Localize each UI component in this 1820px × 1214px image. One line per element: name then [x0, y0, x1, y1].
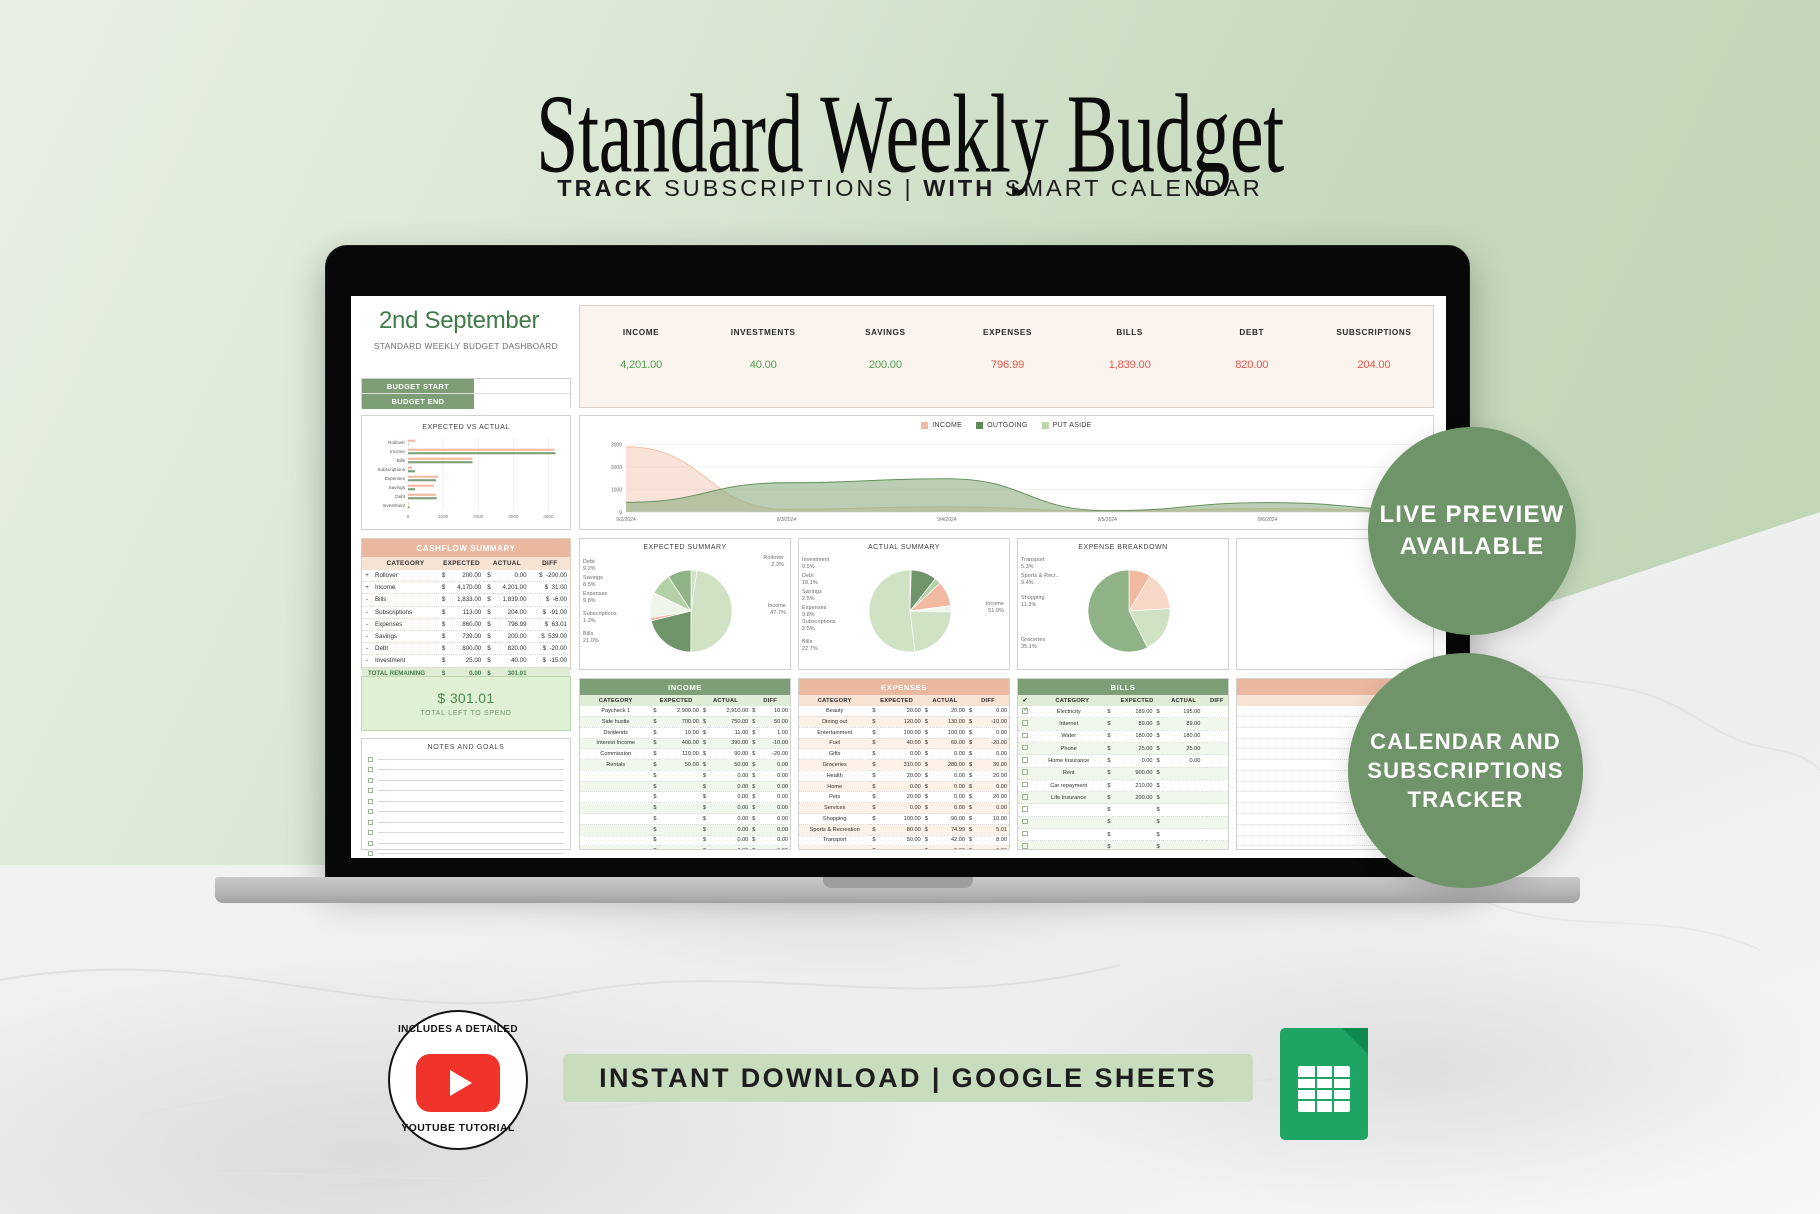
bill-checkbox-cell[interactable]	[1018, 816, 1032, 828]
row-currency: $	[750, 814, 757, 825]
cashflow-currency: $	[439, 606, 448, 618]
cashflow-category: Savings	[372, 630, 439, 642]
kpi-bills: BILLS1,839.00	[1070, 328, 1190, 371]
budget-dashboard: 2nd September STANDARD WEEKLY BUDGET DAS…	[351, 296, 1446, 858]
kpi-label: EXPENSES	[948, 328, 1068, 337]
cashflow-currency: $	[439, 594, 448, 606]
note-line[interactable]	[362, 820, 570, 825]
pie-label-value: 11.3%	[1021, 602, 1036, 608]
pie-label-name: Bills	[802, 639, 812, 645]
row-currency: $	[1105, 743, 1112, 755]
bill-checkbox-cell[interactable]	[1018, 779, 1032, 791]
row-expected: 100.00	[878, 727, 923, 738]
row-currency: $	[1105, 792, 1112, 804]
legend-item-income: INCOME	[921, 422, 962, 429]
pie-label-name: Groceries	[1021, 637, 1045, 643]
row-currency: $	[1105, 706, 1112, 718]
pie-label-value: 10.1%	[802, 580, 818, 586]
row-actual: 0.00	[708, 846, 750, 850]
bill-checkbox[interactable]	[1022, 708, 1028, 714]
row-currency: $	[750, 792, 757, 803]
table-row: Commission$110.00$90.00$-20.00	[580, 749, 790, 760]
row-currency: $	[701, 824, 708, 835]
row-currency: $	[1154, 841, 1161, 850]
pie-label: Income51.9%	[986, 601, 1004, 615]
kpi-expenses: EXPENSES796.99	[948, 328, 1068, 371]
table-row: $$	[1018, 804, 1228, 816]
pie-label: Subscriptions1.3%	[583, 611, 617, 625]
note-line[interactable]	[362, 841, 570, 846]
row-diff	[1202, 730, 1228, 742]
expected-summary-pie: Rollover2.3%Income47.7%Bills21.0%Subscri…	[580, 553, 790, 669]
row-diff: 5.01	[974, 824, 1009, 835]
cashflow-sign: -	[362, 655, 372, 667]
laptop-mockup: 2nd September STANDARD WEEKLY BUDGET DAS…	[325, 245, 1470, 895]
kpi-investments: INVESTMENTS40.00	[703, 328, 823, 371]
row-currency: $	[651, 803, 658, 814]
cashflow-category: Expenses	[372, 618, 439, 630]
row-diff	[1202, 718, 1228, 730]
note-line[interactable]	[362, 799, 570, 804]
row-actual: 89.00	[1162, 718, 1203, 730]
row-expected: 50.00	[878, 835, 923, 846]
bill-checkbox[interactable]	[1022, 720, 1028, 726]
total-left-to-spend-card: $ 301.01 TOTAL LEFT TO SPEND	[361, 676, 571, 731]
row-expected: 0.00	[878, 803, 923, 814]
bill-checkbox-cell[interactable]	[1018, 841, 1032, 850]
cashflow-col-expected: EXPECTED	[439, 557, 484, 570]
row-category	[580, 846, 651, 850]
row-category: Pets	[799, 792, 870, 803]
pie-label-name: Sports & Recr..	[1021, 573, 1059, 579]
pie-label-name: Transport	[1021, 557, 1045, 563]
table-row: Dining out$120.00$130.00$-10.00	[799, 716, 1009, 727]
cashflow-diff: $ 539.00	[530, 630, 570, 642]
expenses-header-row: CATEGORYEXPECTEDACTUALDIFF	[799, 695, 1009, 706]
bill-checkbox[interactable]	[1022, 745, 1028, 751]
cashflow-expected: 4,170.00	[448, 582, 484, 594]
row-currency: $	[651, 770, 658, 781]
bill-checkbox-cell[interactable]	[1018, 718, 1032, 730]
row-expected: 2,900.00	[659, 706, 701, 716]
row-diff: 0.00	[757, 824, 790, 835]
row-expected	[659, 846, 701, 850]
table-row: $$0.00$0.00	[580, 835, 790, 846]
expenses-table: CATEGORYEXPECTEDACTUALDIFF Beauty$20.00$…	[799, 695, 1009, 850]
row-currency: $	[750, 803, 757, 814]
actual-summary-title: ACTUAL SUMMARY	[799, 539, 1009, 551]
row-category: Fuel	[799, 738, 870, 749]
row-category: Water	[1032, 730, 1105, 742]
row-diff: 0.00	[757, 792, 790, 803]
note-line[interactable]	[362, 851, 570, 856]
row-diff	[1202, 779, 1228, 791]
row-currency: $	[651, 716, 658, 727]
cashflow-row: +Rollover$200.00$0.00$ -200.00	[362, 570, 570, 582]
expected-vs-actual-chart: EXPECTED VS ACTUAL RolloverIncomeBillsSu…	[361, 415, 571, 530]
bill-checkbox[interactable]	[1022, 794, 1028, 800]
row-actual: 750.00	[708, 716, 750, 727]
row-currency: $	[870, 716, 877, 727]
bill-checkbox-cell[interactable]	[1018, 767, 1032, 779]
row-diff: -10.00	[974, 716, 1009, 727]
row-currency: $	[923, 846, 930, 850]
row-category: Phone	[1032, 743, 1105, 755]
pie-label: Groceries35.1%	[1021, 637, 1045, 651]
row-currency: $	[651, 738, 658, 749]
row-currency: $	[967, 770, 974, 781]
row-diff: 20.00	[974, 792, 1009, 803]
row-currency: $	[967, 835, 974, 846]
table-row: Services$0.00$0.00$0.00	[799, 803, 1009, 814]
note-checkbox[interactable]	[368, 841, 373, 846]
row-currency: $	[923, 814, 930, 825]
row-diff	[1202, 841, 1228, 850]
bill-checkbox[interactable]	[1022, 819, 1028, 825]
row-actual: 390.00	[708, 738, 750, 749]
svg-text:Subscriptions: Subscriptions	[377, 467, 405, 472]
row-currency: $	[750, 846, 757, 850]
row-diff	[1202, 743, 1228, 755]
kpi-label: INCOME	[581, 328, 701, 337]
bill-checkbox-cell[interactable]	[1018, 743, 1032, 755]
row-category	[580, 814, 651, 825]
bill-checkbox-cell[interactable]	[1018, 730, 1032, 742]
row-currency: $	[923, 760, 930, 771]
row-currency: $	[750, 716, 757, 727]
pie-label-name: Expenses	[802, 605, 826, 611]
row-currency: $	[651, 727, 658, 738]
table-row: Home$0.00$0.00$0.00	[799, 781, 1009, 792]
row-diff: 0.00	[974, 749, 1009, 760]
bill-checkbox-cell[interactable]	[1018, 755, 1032, 767]
pie-label-name: Shopping	[1021, 595, 1045, 601]
table-row: $$0.00$0.00	[799, 846, 1009, 850]
row-category	[1032, 841, 1105, 850]
row-currency: $	[923, 781, 930, 792]
income-table-title: INCOME	[580, 679, 790, 695]
cashflow-diff: $ 31.00	[530, 582, 570, 594]
pie-label-name: Savings	[583, 575, 603, 581]
row-currency: $	[701, 706, 708, 716]
row-currency: $	[923, 706, 930, 716]
note-line[interactable]	[362, 757, 570, 762]
row-actual: 11.00	[708, 727, 750, 738]
cashflow-diff: $ -20.00	[530, 643, 570, 655]
row-category: Shopping	[799, 814, 870, 825]
kpi-label: SAVINGS	[825, 328, 945, 337]
note-rule	[378, 759, 564, 760]
kpi-label: BILLS	[1070, 328, 1190, 337]
row-currency: $	[967, 792, 974, 803]
svg-text:0: 0	[619, 510, 622, 516]
note-line[interactable]	[362, 830, 570, 835]
notes-title: NOTES AND GOALS	[362, 739, 570, 751]
row-expected: 20.00	[878, 770, 923, 781]
row-currency: $	[701, 846, 708, 850]
row-category: Services	[799, 803, 870, 814]
row-category: Car repayment	[1032, 779, 1105, 791]
row-actual: 90.00	[708, 749, 750, 760]
svg-text:9/2/2024: 9/2/2024	[616, 517, 636, 523]
cashflow-category: Subscriptions	[372, 606, 439, 618]
bills-col-actual: ACTUAL	[1162, 695, 1206, 706]
row-actual: 0.00	[1162, 755, 1203, 767]
row-currency: $	[923, 803, 930, 814]
cashflow-summary-card: CASHFLOW SUMMARY CATEGORYEXPECTEDACTUALD…	[361, 538, 571, 670]
row-actual: 42.00	[930, 835, 967, 846]
note-checkbox[interactable]	[368, 830, 373, 835]
pie-label-value: 9.8%	[802, 612, 815, 618]
pie-label: Bills21.0%	[583, 631, 599, 645]
row-actual: 74.99	[930, 824, 967, 835]
pie-label-value: 2.5%	[802, 596, 815, 602]
row-actual: 90.00	[930, 814, 967, 825]
row-currency: $	[967, 749, 974, 760]
row-actual: 0.00	[708, 835, 750, 846]
row-expected: 20.00	[878, 706, 923, 716]
row-actual: 0.00	[708, 770, 750, 781]
pie-label: Savings8.5%	[583, 575, 603, 589]
table-row: $$0.00$0.00	[580, 770, 790, 781]
row-currency: $	[923, 770, 930, 781]
row-actual	[1162, 829, 1203, 841]
row-currency: $	[651, 824, 658, 835]
row-currency: $	[870, 781, 877, 792]
row-currency: $	[651, 781, 658, 792]
cashflow-category: Income	[372, 582, 439, 594]
cta-banner: INSTANT DOWNLOAD | GOOGLE SHEETS	[563, 1054, 1253, 1102]
svg-text:1000: 1000	[611, 487, 622, 493]
daily-cashflow-chart: INCOMEOUTGOINGPUT ASIDE 0100020003000 9/…	[579, 415, 1434, 530]
row-category: Paycheck 1	[580, 706, 651, 716]
kpi-value: 796.99	[948, 359, 1068, 371]
svg-text:Expenses: Expenses	[385, 476, 406, 481]
bill-checkbox-cell[interactable]	[1018, 804, 1032, 816]
row-expected: 25.00	[1113, 743, 1155, 755]
bill-checkbox-cell[interactable]	[1018, 792, 1032, 804]
svg-text:9/3/2024: 9/3/2024	[777, 517, 797, 523]
row-expected: 120.00	[878, 716, 923, 727]
legend-swatch	[976, 422, 983, 429]
row-currency: $	[870, 803, 877, 814]
row-currency: $	[651, 814, 658, 825]
budget-end-input[interactable]	[474, 394, 570, 409]
row-expected	[1113, 804, 1155, 816]
budget-start-input[interactable]	[474, 379, 570, 393]
page-subtitle: TRACK SUBSCRIPTIONS | WITH SMART CALENDA…	[0, 175, 1820, 202]
youtube-play-icon	[416, 1054, 500, 1112]
expenses-table-title: EXPENSES	[799, 679, 1009, 695]
income-col-actual: ACTUAL	[701, 695, 750, 706]
note-checkbox[interactable]	[368, 851, 373, 856]
row-currency: $	[923, 824, 930, 835]
cashflow-category: Investment	[372, 655, 439, 667]
note-rule	[378, 832, 564, 833]
note-checkbox[interactable]	[368, 778, 373, 783]
row-expected: 310.00	[878, 760, 923, 771]
bill-checkbox[interactable]	[1022, 843, 1028, 849]
row-currency: $	[967, 727, 974, 738]
cashflow-row: -Expenses$860.00$796.99$ 63.01	[362, 618, 570, 630]
pie-label-name: Investment	[802, 557, 829, 563]
row-expected: 189.00	[1113, 706, 1155, 718]
note-checkbox[interactable]	[368, 788, 373, 793]
expense-breakdown-svg	[1018, 553, 1228, 669]
bill-checkbox[interactable]	[1022, 806, 1028, 812]
actual-summary-svg	[799, 553, 1009, 669]
row-currency: $	[701, 727, 708, 738]
row-currency: $	[701, 803, 708, 814]
row-currency: $	[1105, 841, 1112, 850]
row-category: Rentals	[580, 760, 651, 771]
row-currency: $	[1154, 730, 1161, 742]
row-currency: $	[651, 835, 658, 846]
cashflow-actual: 1,839.00	[494, 594, 530, 606]
cashflow-currency: $	[439, 582, 448, 594]
note-rule	[378, 801, 564, 802]
table-row: $$	[1018, 816, 1228, 828]
notes-and-goals-card: NOTES AND GOALS	[361, 738, 571, 850]
svg-text:9/5/2024: 9/5/2024	[1097, 517, 1117, 523]
budget-end-row: BUDGET END	[362, 394, 570, 409]
row-category: Sports & Recreation	[799, 824, 870, 835]
note-checkbox[interactable]	[368, 820, 373, 825]
row-category: Home Insurance	[1032, 755, 1105, 767]
row-expected	[878, 846, 923, 850]
pie-label-name: Debt	[583, 559, 595, 565]
actual-summary-card: ACTUAL SUMMARY Investment0.5%Debt10.1%Sa…	[798, 538, 1010, 670]
legend-swatch	[921, 422, 928, 429]
kpi-value: 40.00	[703, 359, 823, 371]
row-currency: $	[923, 738, 930, 749]
note-checkbox[interactable]	[368, 757, 373, 762]
seal-top-text: INCLUDES A DETAILED	[388, 1024, 528, 1035]
dashboard-subtitle: STANDARD WEEKLY BUDGET DASHBOARD	[361, 341, 571, 351]
cashflow-currency: $	[439, 655, 448, 667]
expected-summary-title: EXPECTED SUMMARY	[580, 539, 790, 551]
cashflow-row: -Bills$1,833.00$1,839.00$ -6.00	[362, 594, 570, 606]
bill-checkbox[interactable]	[1022, 831, 1028, 837]
table-row: Health$20.00$0.00$20.00	[799, 770, 1009, 781]
table-row: Rent$900.00$	[1018, 767, 1228, 779]
row-expected	[659, 824, 701, 835]
bill-checkbox-cell[interactable]	[1018, 829, 1032, 841]
pie-label-value: 8.5%	[583, 582, 596, 588]
note-line[interactable]	[362, 788, 570, 793]
row-actual: 100.00	[930, 727, 967, 738]
bill-checkbox[interactable]	[1022, 769, 1028, 775]
row-diff: -20.00	[974, 738, 1009, 749]
pie-label-name: Expenses	[583, 591, 607, 597]
row-category: Life Insurance	[1032, 792, 1105, 804]
income-table: CATEGORYEXPECTEDACTUALDIFF Paycheck 1$2,…	[580, 695, 790, 850]
row-currency: $	[967, 814, 974, 825]
row-currency: $	[870, 814, 877, 825]
cashflow-diff: $ -6.00	[530, 594, 570, 606]
pie-label: Savings2.5%	[802, 589, 822, 603]
note-line[interactable]	[362, 778, 570, 783]
cashflow-diff: $ -200.00	[530, 570, 570, 582]
legend-item-put-aside: PUT ASIDE	[1042, 422, 1092, 429]
row-expected	[659, 792, 701, 803]
row-actual: 130.00	[930, 716, 967, 727]
google-sheets-icon	[1280, 1028, 1368, 1140]
pie-label: Debt10.1%	[802, 573, 818, 587]
cashflow-row: +Income$4,170.00$4,201.00$ 31.00	[362, 582, 570, 594]
table-row: Car repayment$210.00$	[1018, 779, 1228, 791]
note-line[interactable]	[362, 767, 570, 772]
kpi-value: 4,201.00	[581, 359, 701, 371]
row-category: Gifts	[799, 749, 870, 760]
row-actual: 25.00	[1162, 743, 1203, 755]
row-expected: 900.00	[1113, 767, 1155, 779]
budget-start-label: BUDGET START	[362, 379, 474, 393]
row-expected: 40.00	[878, 738, 923, 749]
cashflow-col-sign	[362, 557, 372, 570]
row-category	[580, 803, 651, 814]
svg-text:Rollover: Rollover	[388, 440, 405, 445]
bill-checkbox[interactable]	[1022, 757, 1028, 763]
bill-checkbox[interactable]	[1022, 782, 1028, 788]
cashflow-currency: $	[484, 630, 493, 642]
row-diff: 10.00	[757, 706, 790, 716]
cashflow-currency: $	[484, 643, 493, 655]
kpi-savings: SAVINGS200.00	[825, 328, 945, 371]
cashflow-header-row: CATEGORYEXPECTEDACTUALDIFF	[362, 557, 570, 570]
cashflow-expected: 739.00	[448, 630, 484, 642]
note-rule	[378, 853, 564, 854]
row-currency: $	[1105, 829, 1112, 841]
row-currency: $	[870, 835, 877, 846]
bill-checkbox-cell[interactable]	[1018, 706, 1032, 718]
row-currency: $	[651, 706, 658, 716]
row-diff: 0.00	[757, 846, 790, 850]
expense-breakdown-card: EXPENSE BREAKDOWN Transport5.3%Sports & …	[1017, 538, 1229, 670]
row-currency: $	[1105, 816, 1112, 828]
table-row: Interest Income$400.00$390.00$-10.00	[580, 738, 790, 749]
table-row: Sports & Recreation$80.00$74.99$5.01	[799, 824, 1009, 835]
note-rule	[378, 811, 564, 812]
row-actual	[1162, 792, 1203, 804]
bill-checkbox[interactable]	[1022, 733, 1028, 739]
cashflow-diff: $ -15.00	[530, 655, 570, 667]
svg-text:Savings: Savings	[389, 485, 406, 490]
legend-label: PUT ASIDE	[1053, 422, 1092, 429]
row-currency: $	[967, 706, 974, 716]
note-checkbox[interactable]	[368, 767, 373, 772]
svg-text:2000: 2000	[473, 514, 484, 519]
cashflow-sign: -	[362, 618, 372, 630]
pie-label: Transport5.3%	[1021, 557, 1045, 571]
row-diff	[1202, 767, 1228, 779]
row-category	[580, 792, 651, 803]
row-actual: 0.00	[930, 846, 967, 850]
actual-summary-pie: Investment0.5%Debt10.1%Savings2.5%Expens…	[799, 553, 1009, 669]
subtitle-part-subscriptions: SUBSCRIPTIONS |	[664, 175, 923, 201]
row-expected: 89.00	[1113, 718, 1155, 730]
laptop-notch	[823, 877, 973, 888]
note-line[interactable]	[362, 809, 570, 814]
row-category	[1032, 816, 1105, 828]
table-row: $$	[1018, 829, 1228, 841]
pie-label-name: Income	[986, 601, 1004, 607]
row-diff: 0.00	[757, 760, 790, 771]
note-checkbox[interactable]	[368, 799, 373, 804]
row-currency: $	[1154, 706, 1161, 718]
note-checkbox[interactable]	[368, 809, 373, 814]
row-diff: 0.00	[974, 781, 1009, 792]
